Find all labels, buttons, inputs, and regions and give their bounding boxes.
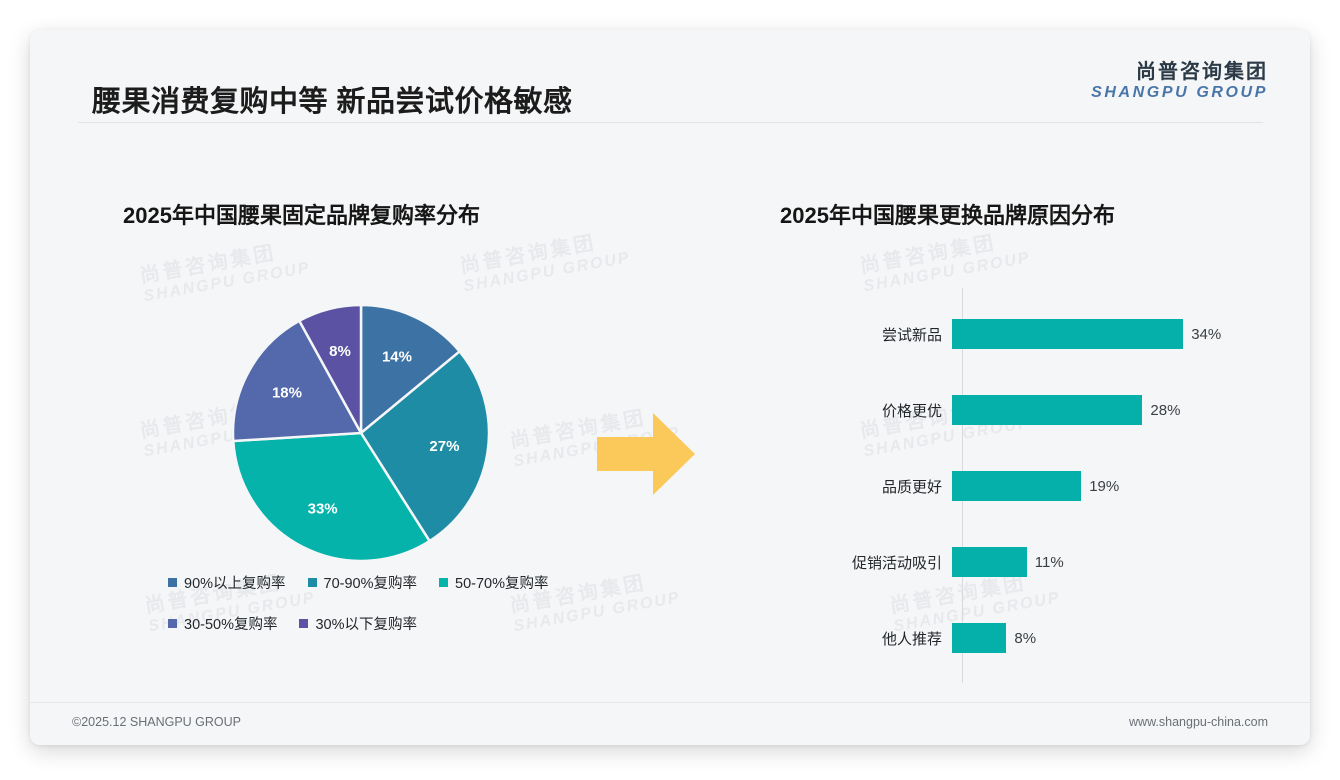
brand-switch-reason-bar-chart: 尝试新品34%价格更优28%品质更好19%促销活动吸引11%他人推荐8% bbox=[780, 288, 1280, 683]
legend-item[interactable]: 90%以上复购率 bbox=[168, 572, 286, 593]
bar-rect bbox=[952, 395, 1142, 425]
bar-value-label: 28% bbox=[1150, 402, 1180, 419]
website-link[interactable]: www.shangpu-china.com bbox=[1129, 715, 1268, 729]
bar-row: 价格更优28% bbox=[780, 390, 1280, 430]
legend-label: 30%以下复购率 bbox=[315, 613, 417, 634]
right-chart-title: 2025年中国腰果更换品牌原因分布 bbox=[780, 198, 1115, 230]
legend-swatch-icon bbox=[168, 578, 177, 587]
arrow-svg bbox=[597, 413, 695, 495]
watermark-cn: 尚普咨询集团 bbox=[137, 231, 309, 289]
legend-label: 70-90%复购率 bbox=[324, 572, 417, 593]
bar-category-label: 品质更好 bbox=[780, 476, 952, 497]
bar-rect bbox=[952, 547, 1027, 577]
legend-item[interactable]: 70-90%复购率 bbox=[308, 572, 417, 593]
bar-category-label: 促销活动吸引 bbox=[780, 552, 952, 573]
legend-swatch-icon bbox=[439, 578, 448, 587]
bar-rect bbox=[952, 623, 1006, 653]
bar-row: 品质更好19% bbox=[780, 466, 1280, 506]
brand-logo: 尚普咨询集团 SHANGPU GROUP bbox=[1091, 62, 1268, 102]
pie-slice-label: 18% bbox=[272, 384, 302, 401]
watermark: 尚普咨询集团 SHANGPU GROUP bbox=[857, 221, 1032, 297]
right-arrow-icon bbox=[597, 413, 695, 500]
pie-slice-label: 27% bbox=[429, 438, 459, 455]
bar-row: 他人推荐8% bbox=[780, 618, 1280, 658]
legend-swatch-icon bbox=[308, 578, 317, 587]
bar-row: 尝试新品34% bbox=[780, 314, 1280, 354]
bar-value-label: 34% bbox=[1191, 326, 1221, 343]
bar-category-label: 尝试新品 bbox=[780, 324, 952, 345]
legend-swatch-icon bbox=[299, 619, 308, 628]
legend-label: 50-70%复购率 bbox=[455, 572, 548, 593]
pie-svg: 14%27%33%18%8% bbox=[220, 292, 502, 574]
watermark-en: SHANGPU GROUP bbox=[462, 249, 632, 296]
pie-slice-label: 8% bbox=[329, 343, 351, 360]
legend-item[interactable]: 30-50%复购率 bbox=[168, 613, 277, 634]
repurchase-rate-pie-chart: 14%27%33%18%8% bbox=[220, 292, 502, 574]
legend-label: 30-50%复购率 bbox=[184, 613, 277, 634]
bar-rect bbox=[952, 471, 1081, 501]
watermark-cn: 尚普咨询集团 bbox=[457, 221, 629, 279]
pie-slices bbox=[233, 305, 489, 561]
pie-slice-label: 14% bbox=[382, 349, 412, 366]
legend-swatch-icon bbox=[168, 619, 177, 628]
bar-row: 促销活动吸引11% bbox=[780, 542, 1280, 582]
legend-label: 90%以上复购率 bbox=[184, 572, 286, 593]
pie-legend: 90%以上复购率70-90%复购率50-70%复购率 30-50%复购率30%以… bbox=[168, 572, 598, 654]
watermark: 尚普咨询集团 SHANGPU GROUP bbox=[457, 221, 632, 297]
bar-rect bbox=[952, 319, 1183, 349]
legend-item[interactable]: 50-70%复购率 bbox=[439, 572, 548, 593]
bar-category-label: 价格更优 bbox=[780, 400, 952, 421]
legend-row: 30-50%复购率30%以下复购率 bbox=[168, 613, 598, 634]
bar-value-label: 8% bbox=[1014, 630, 1036, 647]
bar-value-label: 19% bbox=[1089, 478, 1119, 495]
legend-row: 90%以上复购率70-90%复购率50-70%复购率 bbox=[168, 572, 598, 593]
pie-slice-label: 33% bbox=[308, 500, 338, 517]
copyright-text: ©2025.12 SHANGPU GROUP bbox=[72, 715, 241, 729]
slide-footer: ©2025.12 SHANGPU GROUP www.shangpu-china… bbox=[30, 702, 1310, 745]
legend-item[interactable]: 30%以下复购率 bbox=[299, 613, 417, 634]
left-chart-title: 2025年中国腰果固定品牌复购率分布 bbox=[123, 198, 480, 230]
bar-category-label: 他人推荐 bbox=[780, 628, 952, 649]
slide-header: 腰果消费复购中等 新品尝试价格敏感 尚普咨询集团 SHANGPU GROUP bbox=[30, 30, 1310, 123]
page-title: 腰果消费复购中等 新品尝试价格敏感 bbox=[92, 78, 573, 120]
logo-english-text: SHANGPU GROUP bbox=[1091, 85, 1268, 102]
slide-card: 腰果消费复购中等 新品尝试价格敏感 尚普咨询集团 SHANGPU GROUP 尚… bbox=[30, 30, 1310, 745]
bar-value-label: 11% bbox=[1035, 554, 1064, 571]
header-divider bbox=[78, 122, 1263, 123]
logo-chinese-text: 尚普咨询集团 bbox=[1091, 62, 1268, 83]
